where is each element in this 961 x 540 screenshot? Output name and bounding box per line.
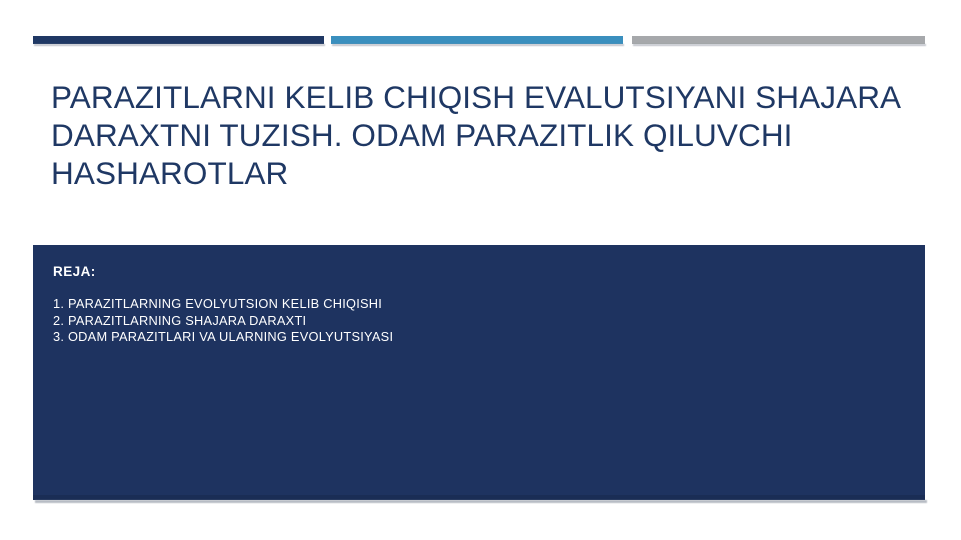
decor-bar-gray-fill [632,36,925,44]
agenda-heading: REJA: [53,264,905,279]
agenda-panel-content: REJA: 1. PARAZITLARNING EVOLYUTSION KELI… [53,264,905,346]
decor-bar-light-blue [331,36,623,46]
decor-bar-dark-navy-fill [33,36,324,44]
slide-title: PARAZITLARNI KELIB CHIQISH EVALUTSIYANI … [51,78,911,192]
agenda-list-item: 3. ODAM PARAZITLARI VA ULARNING EVOLYUTS… [53,329,905,346]
decor-bar-dark-navy [33,36,324,46]
decor-bar-light-blue-fill [331,36,623,44]
decor-bar-dark-navy-shadow [34,44,325,46]
agenda-panel: REJA: 1. PARAZITLARNING EVOLYUTSION KELI… [33,245,925,500]
agenda-list: 1. PARAZITLARNING EVOLYUTSION KELIB CHIQ… [53,296,905,346]
agenda-panel-shadow [35,500,927,503]
decor-bar-light-blue-shadow [332,44,624,46]
agenda-list-item: 1. PARAZITLARNING EVOLYUTSION KELIB CHIQ… [53,296,905,313]
decor-bar-gray-shadow [633,44,926,46]
agenda-list-item: 2. PARAZITLARNING SHAJARA DARAXTI [53,313,905,330]
decor-bar-gray [632,36,925,46]
